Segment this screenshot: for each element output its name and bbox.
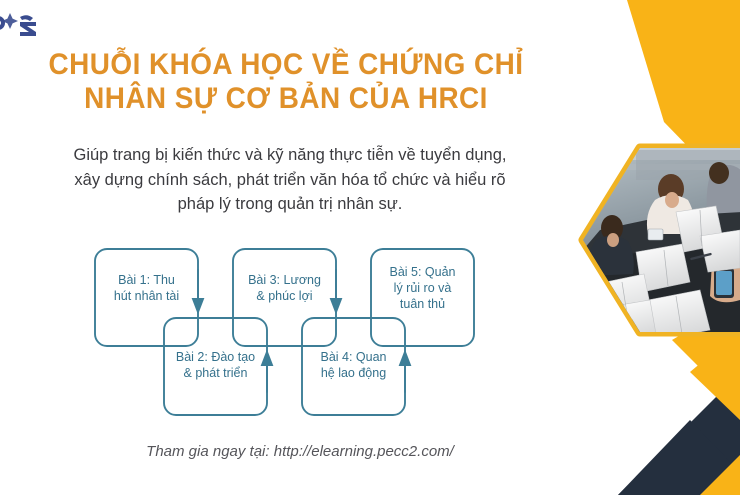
navy-chevron-bottom [618,373,740,495]
page-title: CHUỖI KHÓA HỌC VỀ CHỨNG CHỈ NHÂN SỰ CƠ B… [20,48,552,116]
lead-line-2: xây dựng chính sách, phát triển văn hóa … [10,168,570,193]
team-photo [583,145,740,340]
pecc2-logo[interactable] [0,10,46,40]
photo-hex-frame [583,148,740,332]
lead-line-1: Giúp trang bị kiến thức và kỹ năng thực … [10,143,570,168]
course-flow-diagram: Bài 1: Thu hút nhân tài Bài 2: Đào tạo &… [90,240,490,425]
lead-line-3: pháp lý trong quản trị nhân sự. [10,192,570,217]
enrollment-link[interactable]: Tham gia ngay tại: http://elearning.pecc… [40,443,560,460]
flow-box-5-label[interactable]: Bài 5: Quản lý rủi ro và tuân thủ [371,264,474,312]
lead-paragraph: Giúp trang bị kiến thức và kỹ năng thực … [10,143,570,217]
flow-box-4-label[interactable]: Bài 4: Quan hệ lao động [302,349,405,381]
yellow-chevron-bottom [672,300,740,495]
page-title-line-2: NHÂN SỰ CƠ BẢN CỦA HRCI [20,82,552,116]
flow-box-2-label[interactable]: Bài 2: Đào tạo & phát triển [164,349,267,381]
flow-box-3-label[interactable]: Bài 3: Lương & phúc lợi [233,272,336,304]
page-title-line-1: CHUỖI KHÓA HỌC VỀ CHỨNG CHỈ [20,48,552,82]
flow-box-1-label[interactable]: Bài 1: Thu hút nhân tài [95,272,198,304]
slide-root: CHUỖI KHÓA HỌC VỀ CHỨNG CHỈ NHÂN SỰ CƠ B… [0,0,740,495]
yellow-chevron-top [627,0,740,200]
